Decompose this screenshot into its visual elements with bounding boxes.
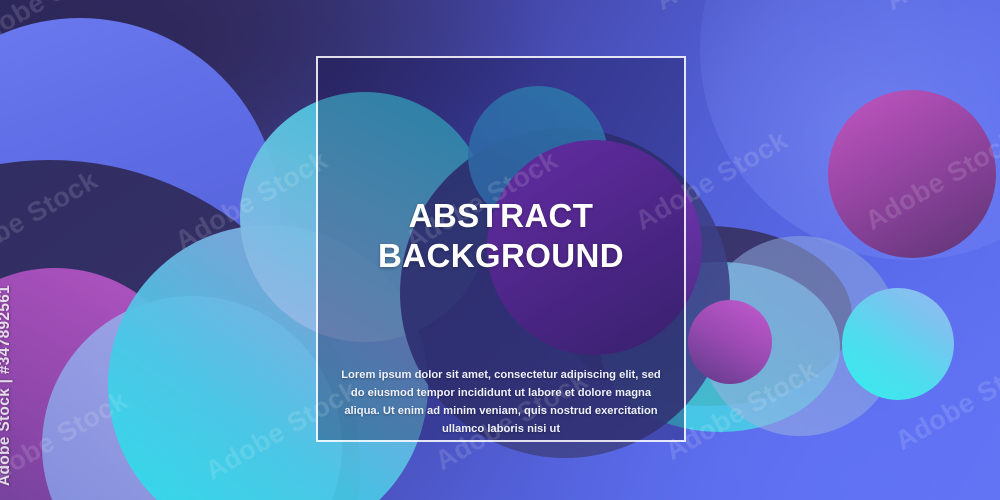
abstract-background-image: ABSTRACT BACKGROUND Lorem ipsum dolor si… [0, 0, 1000, 500]
headline-line-2: BACKGROUND [378, 236, 624, 276]
circle-magenta-small-right [688, 300, 772, 384]
page-title: ABSTRACT BACKGROUND [378, 196, 624, 277]
body-paragraph: Lorem ipsum dolor sit amet, consectetur … [336, 366, 666, 439]
headline-line-1: ABSTRACT [378, 196, 624, 236]
content-frame: ABSTRACT BACKGROUND Lorem ipsum dolor si… [316, 56, 686, 442]
stock-credit-label: Adobe Stock | #347892561 [0, 285, 14, 486]
circle-cyan-bottom-right [842, 288, 954, 400]
circle-magenta-upper-right [828, 90, 996, 258]
frame-content: ABSTRACT BACKGROUND Lorem ipsum dolor si… [318, 58, 684, 440]
